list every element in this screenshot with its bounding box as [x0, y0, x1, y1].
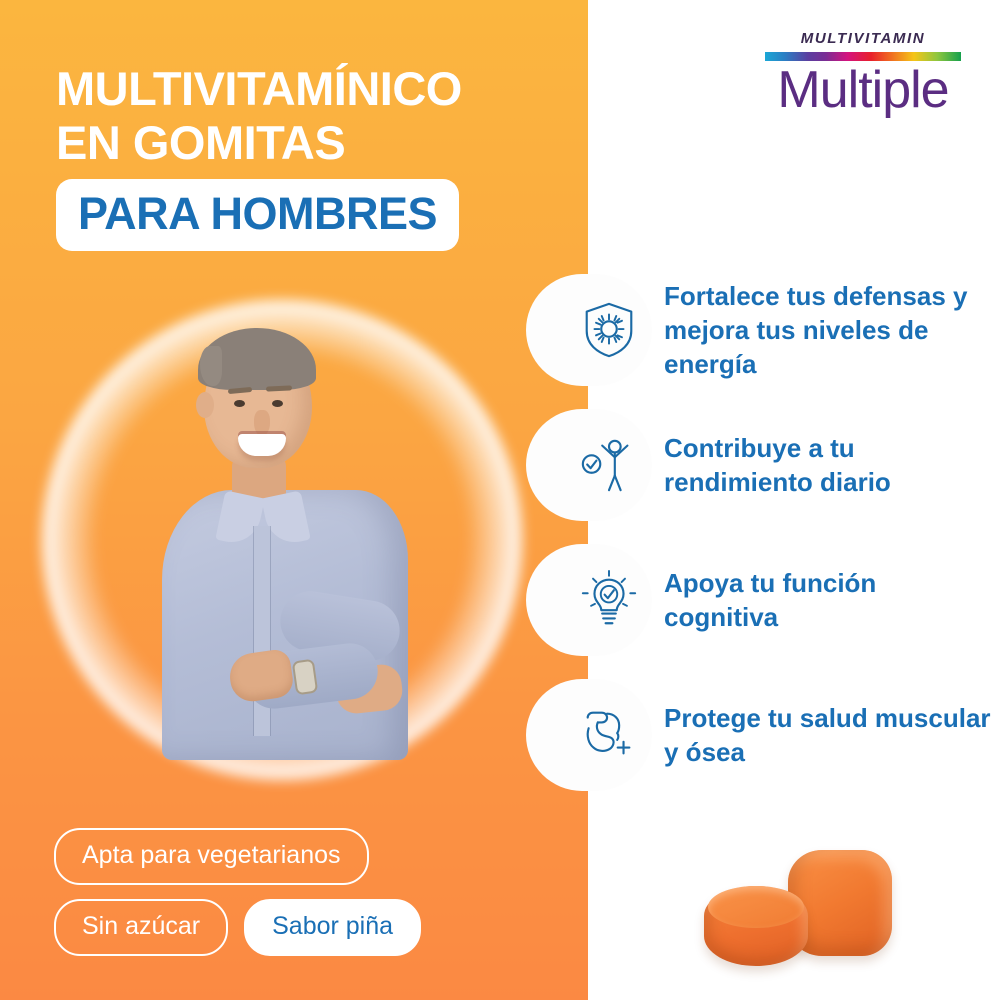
flexed-arm-plus-icon: [526, 679, 652, 791]
benefit-item: Contribuye a tu rendimiento diario: [588, 397, 1000, 532]
brand-name: Multiple: [760, 63, 966, 118]
hair: [198, 328, 316, 390]
headline-line-1: MULTIVITAMÍNICO: [56, 62, 556, 116]
benefit-label: Protege tu salud muscular y ósea: [664, 701, 994, 769]
eye-right: [272, 400, 283, 407]
ear: [196, 392, 214, 418]
benefit-label: Contribuye a tu rendimiento diario: [664, 431, 994, 499]
orange-hero-panel: MULTIVITAMÍNICO EN GOMITAS PARA HOMBRES: [0, 0, 588, 1000]
gummies-product-image: [696, 842, 906, 972]
badge-row-2: Sin azúcar Sabor piña: [54, 899, 524, 956]
badge-sugar-free: Sin azúcar: [54, 899, 228, 956]
gummy-cylinder: [704, 886, 808, 966]
badge-row-1: Apta para vegetarianos: [54, 828, 524, 885]
brand-logo: MULTIVITAMIN Multiple: [760, 30, 966, 118]
headline-line-2: EN GOMITAS: [56, 116, 556, 170]
nose: [254, 410, 270, 436]
right-content-column: MULTIVITAMIN Multiple: [588, 0, 1000, 1000]
eye-left: [234, 400, 245, 407]
advertisement-banner: MULTIVITAMÍNICO EN GOMITAS PARA HOMBRES: [0, 0, 1000, 1000]
benefit-item: Apoya tu función cognitiva: [588, 532, 1000, 667]
rainbow-gradient-bar-icon: [765, 52, 961, 61]
lightbulb-check-icon: [526, 544, 652, 656]
benefit-label: Fortalece tus defensas y mejora tus nive…: [664, 279, 994, 381]
brand-kicker: MULTIVITAMIN: [760, 30, 966, 47]
benefit-label: Apoya tu función cognitiva: [664, 566, 994, 634]
headline-block: MULTIVITAMÍNICO EN GOMITAS PARA HOMBRES: [56, 62, 556, 251]
benefit-item: Protege tu salud muscular y ósea: [588, 667, 1000, 802]
person-arms-up-check-icon: [526, 409, 652, 521]
headline-pill-para-hombres: PARA HOMBRES: [56, 179, 459, 251]
badge-vegetarian: Apta para vegetarianos: [54, 828, 369, 885]
product-badges: Apta para vegetarianos Sin azúcar Sabor …: [54, 828, 524, 956]
hero-man-photo: [150, 330, 440, 760]
benefit-item: Fortalece tus defensas y mejora tus nive…: [588, 262, 1000, 397]
badge-flavor: Sabor piña: [244, 899, 421, 956]
benefits-list: Fortalece tus defensas y mejora tus nive…: [588, 262, 1000, 802]
shield-sun-icon: [526, 274, 652, 386]
